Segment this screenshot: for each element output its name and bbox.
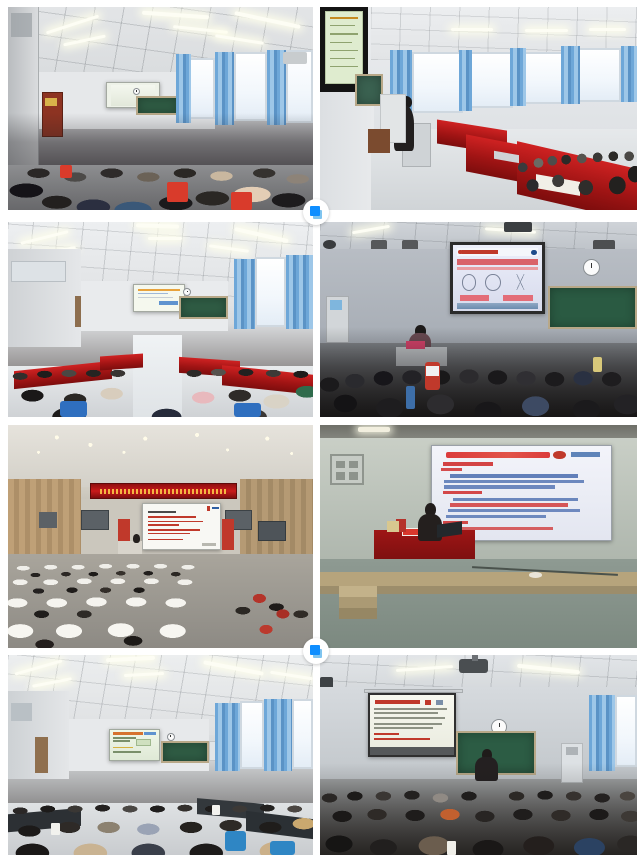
photo-row3-left[interactable]	[8, 425, 313, 648]
photo-row4-right[interactable]	[320, 655, 637, 855]
photo-row2-right[interactable]	[320, 222, 637, 417]
photo-row2-left[interactable]	[8, 222, 313, 417]
duplicate-badge-2[interactable]	[303, 638, 329, 664]
photo-row3-right[interactable]	[320, 425, 637, 648]
photo-row1-right[interactable]	[320, 7, 637, 210]
copy-square-front-icon	[310, 206, 320, 216]
photo-collage: Classroom lecture hall viewed from the b…	[0, 0, 637, 863]
copy-square-front-icon	[310, 645, 320, 655]
duplicate-badge-1[interactable]	[303, 199, 329, 225]
photo-row1-left[interactable]	[8, 7, 313, 210]
photo-row4-left[interactable]	[8, 655, 313, 855]
